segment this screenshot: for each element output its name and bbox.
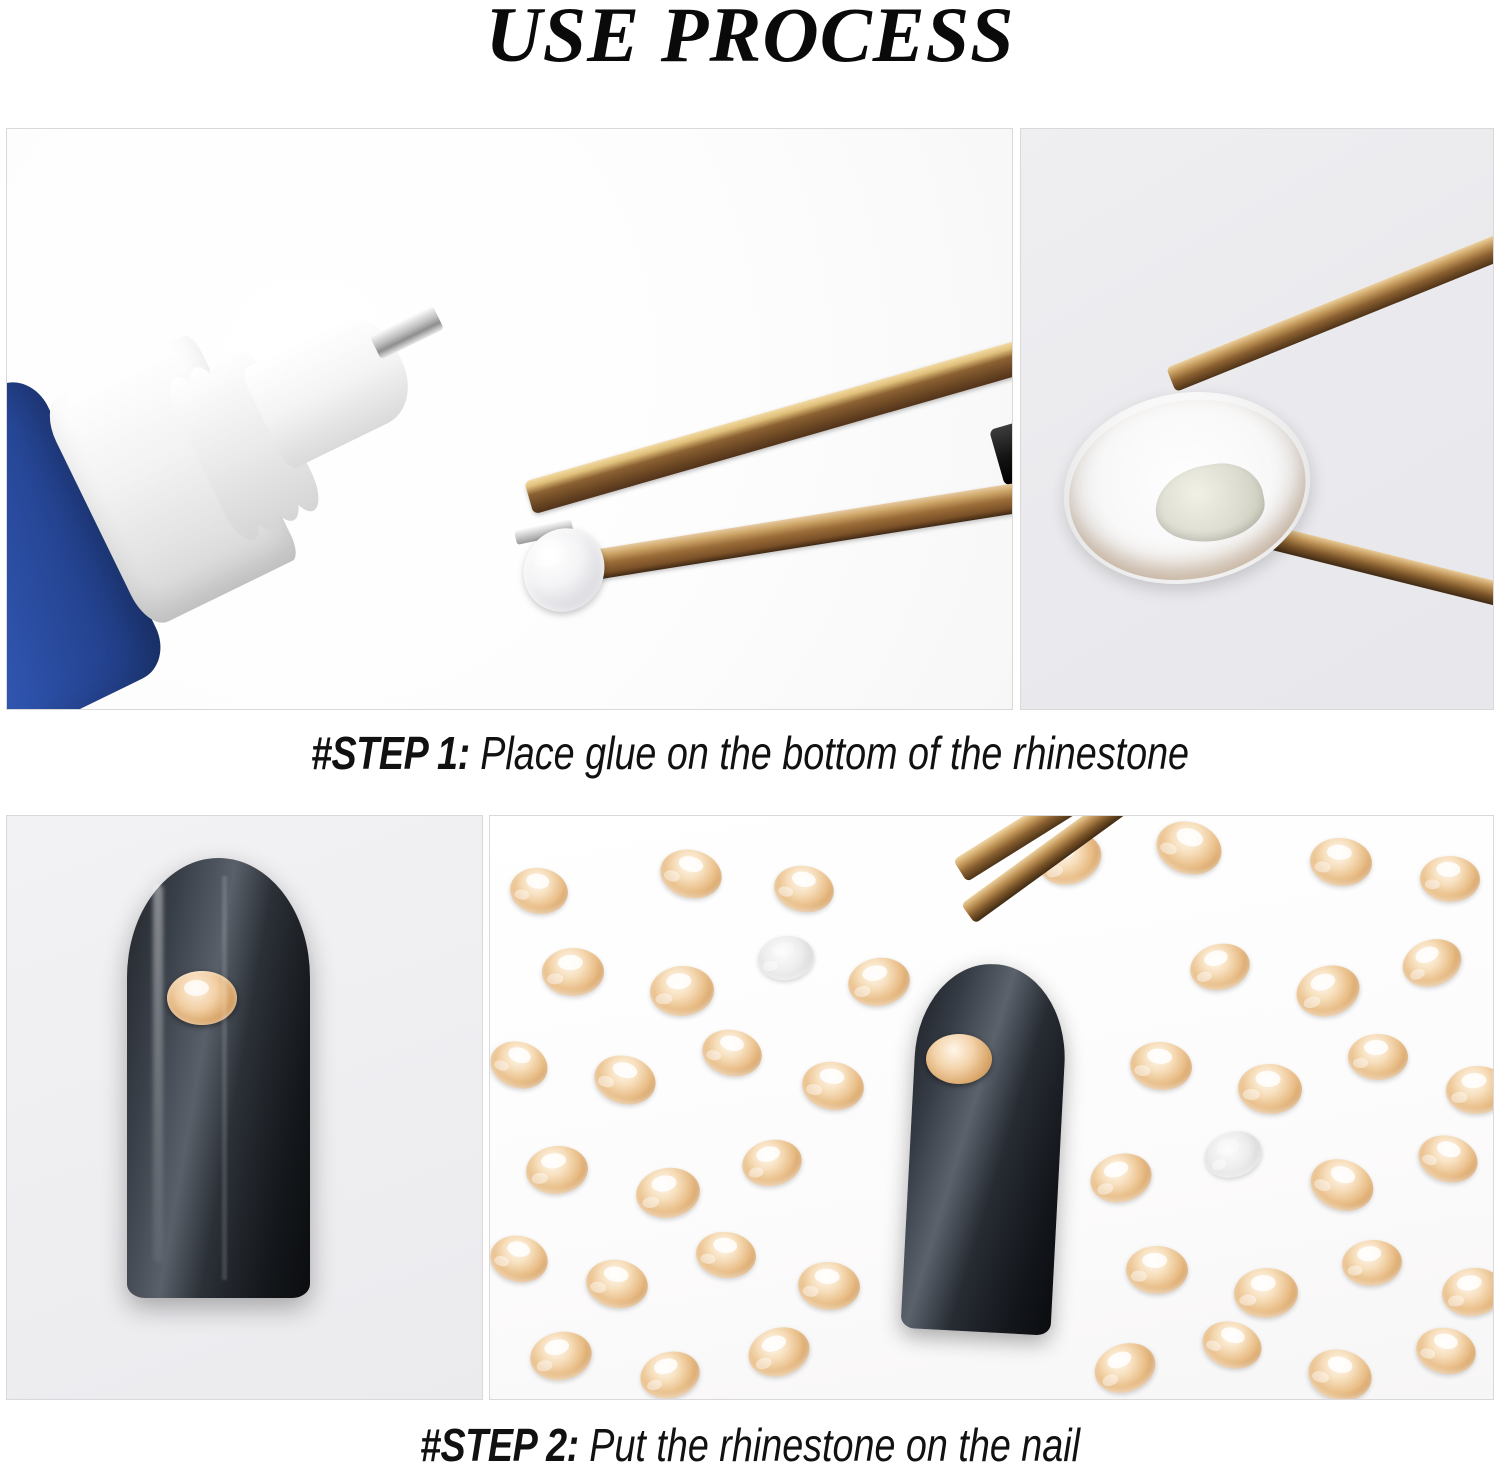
press-on-nail <box>127 858 310 1298</box>
tweezer-closeup-photo <box>1020 128 1494 710</box>
glue-label-letter-2: R <box>6 605 30 710</box>
step-2-caption: #STEP 2: Put the rhinestone on the nail <box>135 1418 1365 1472</box>
step-2-text: Put the rhinestone on the nail <box>579 1419 1080 1471</box>
step-1-caption: #STEP 1: Place glue on the bottom of the… <box>135 726 1365 780</box>
applied-rhinestone <box>926 1034 992 1084</box>
nail-with-rhinestone-photo <box>6 815 483 1400</box>
press-on-nail <box>900 960 1069 1335</box>
page-title: USE PROCESS <box>0 0 1500 74</box>
step-1-text: Place glue on the bottom of the rhinesto… <box>470 727 1189 779</box>
rhinestones-scatter-photo <box>489 815 1494 1400</box>
glue-bottle-tweezer-photo: B R <box>6 128 1013 710</box>
step-1-label: #STEP 1: <box>311 727 470 779</box>
step-1-photo-row: B R <box>6 128 1494 710</box>
applied-rhinestone <box>167 971 237 1025</box>
rhinestone <box>1348 1034 1408 1080</box>
step-2-photo-row <box>6 815 1494 1400</box>
step-2-label: #STEP 2: <box>420 1419 579 1471</box>
